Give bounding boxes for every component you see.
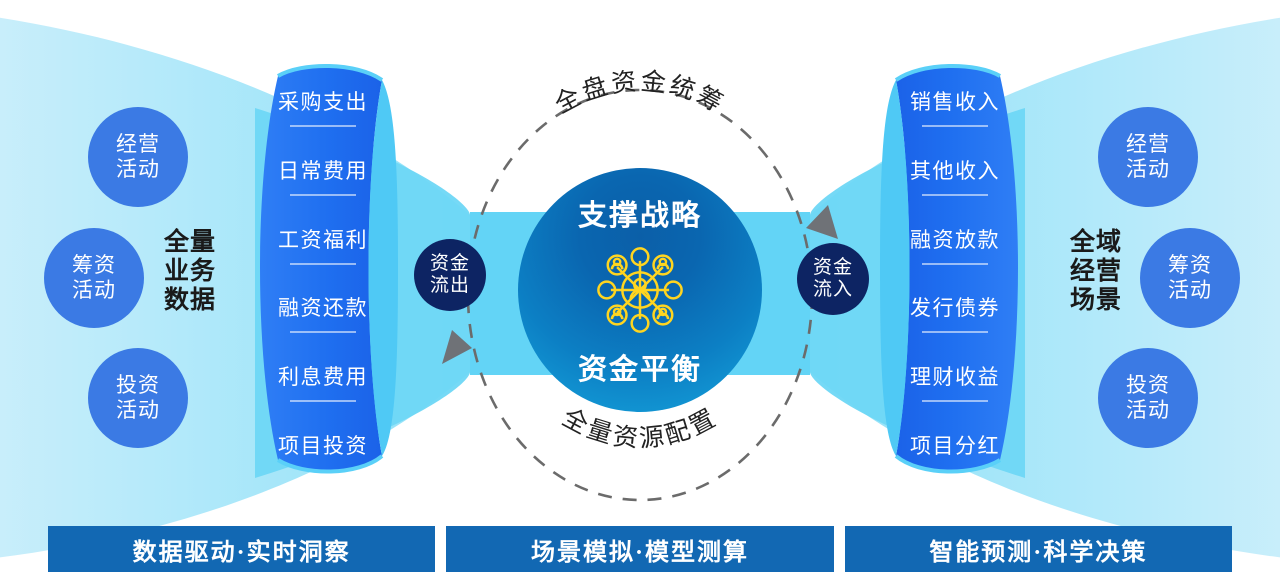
fund-outflow-node: 资金 流出 bbox=[414, 239, 486, 311]
right-circle-label-line-1: 投资 bbox=[1126, 373, 1170, 398]
banner-data-driven[interactable]: 数据驱动·实时洞察 bbox=[48, 526, 435, 572]
fund-inflow-line-1: 资金 bbox=[813, 257, 853, 279]
fund-outflow-line-2: 流出 bbox=[430, 275, 470, 297]
right-circle-label-line-2: 活动 bbox=[1126, 398, 1170, 423]
left-circle-label-line-2: 活动 bbox=[72, 278, 116, 303]
right-circle-label-line-2: 活动 bbox=[1168, 278, 1212, 303]
right-cylinder-item: 发行债券 bbox=[910, 292, 1000, 322]
banner-intelligent-forecast[interactable]: 智能预测·科学决策 bbox=[845, 526, 1232, 572]
right-circle-label-line-1: 筹资 bbox=[1168, 253, 1212, 278]
left-cylinder-item: 利息费用 bbox=[278, 361, 368, 391]
left-circle-label-line-2: 活动 bbox=[116, 398, 160, 423]
bottom-banner-row: 数据驱动·实时洞察 场景模拟·模型测算 智能预测·科学决策 bbox=[48, 526, 1232, 572]
left-cylinder-item: 采购支出 bbox=[278, 86, 368, 116]
right-cylinder-item: 项目分红 bbox=[910, 430, 1000, 460]
left-circle-label-line-1: 经营 bbox=[116, 132, 160, 157]
right-circle-operating-activities: 经营 活动 bbox=[1098, 107, 1198, 207]
right-group-label: 全域 经营 场景 bbox=[1056, 228, 1136, 315]
left-cylinder-item: 工资福利 bbox=[278, 224, 368, 254]
right-group-label-line-3: 场景 bbox=[1056, 286, 1136, 315]
left-cylinder-item-list: 采购支出 日常费用 工资福利 融资还款 利息费用 项目投资 bbox=[248, 58, 398, 478]
right-circle-financing-activities: 筹资 活动 bbox=[1140, 228, 1240, 328]
right-cylinder-item: 其他收入 bbox=[910, 155, 1000, 185]
right-group-label-line-1: 全域 bbox=[1056, 228, 1136, 257]
right-group-label-line-2: 经营 bbox=[1056, 257, 1136, 286]
right-cylinder-item: 销售收入 bbox=[910, 86, 1000, 116]
left-circle-label-line-1: 筹资 bbox=[72, 253, 116, 278]
fund-inflow-node: 资金 流入 bbox=[797, 243, 869, 315]
hub-title: 支撑战略 bbox=[578, 192, 702, 234]
right-cylinder-item: 融资放款 bbox=[910, 224, 1000, 254]
left-cylinder-item: 日常费用 bbox=[278, 155, 368, 185]
left-circle-label-line-2: 活动 bbox=[116, 157, 160, 182]
left-group-label: 全量 业务 数据 bbox=[150, 228, 230, 315]
right-circle-investing-activities: 投资 活动 bbox=[1098, 348, 1198, 448]
right-cylinder-inflow: 销售收入 其他收入 融资放款 发行债券 理财收益 项目分红 bbox=[880, 58, 1030, 478]
left-group-label-line-2: 业务 bbox=[150, 257, 230, 286]
right-circle-label-line-1: 经营 bbox=[1126, 132, 1170, 157]
left-cylinder-item: 项目投资 bbox=[278, 430, 368, 460]
fund-inflow-line-2: 流入 bbox=[813, 279, 853, 301]
left-cylinder-outflow: 采购支出 日常费用 工资福利 融资还款 利息费用 项目投资 bbox=[248, 58, 398, 478]
hub-subtitle: 资金平衡 bbox=[578, 346, 702, 388]
fund-outflow-line-1: 资金 bbox=[430, 253, 470, 275]
right-circle-label-line-2: 活动 bbox=[1126, 157, 1170, 182]
left-group-label-line-3: 数据 bbox=[150, 286, 230, 315]
center-hub: 支撑战略 资金平衡 bbox=[518, 168, 762, 412]
diagram-canvas: 采购支出 日常费用 工资福利 融资还款 利息费用 项目投资 销售收入 其他收入 … bbox=[0, 0, 1280, 584]
left-cylinder-item: 融资还款 bbox=[278, 292, 368, 322]
left-group-label-line-1: 全量 bbox=[150, 228, 230, 257]
left-circle-operating-activities: 经营 活动 bbox=[88, 107, 188, 207]
banner-scenario-simulation[interactable]: 场景模拟·模型测算 bbox=[446, 526, 833, 572]
left-circle-label-line-1: 投资 bbox=[116, 373, 160, 398]
left-circle-investing-activities: 投资 活动 bbox=[88, 348, 188, 448]
left-circle-financing-activities: 筹资 活动 bbox=[44, 228, 144, 328]
right-cylinder-item: 理财收益 bbox=[910, 361, 1000, 391]
right-cylinder-item-list: 销售收入 其他收入 融资放款 发行债券 理财收益 项目分红 bbox=[880, 58, 1030, 478]
people-network-icon bbox=[588, 238, 692, 342]
